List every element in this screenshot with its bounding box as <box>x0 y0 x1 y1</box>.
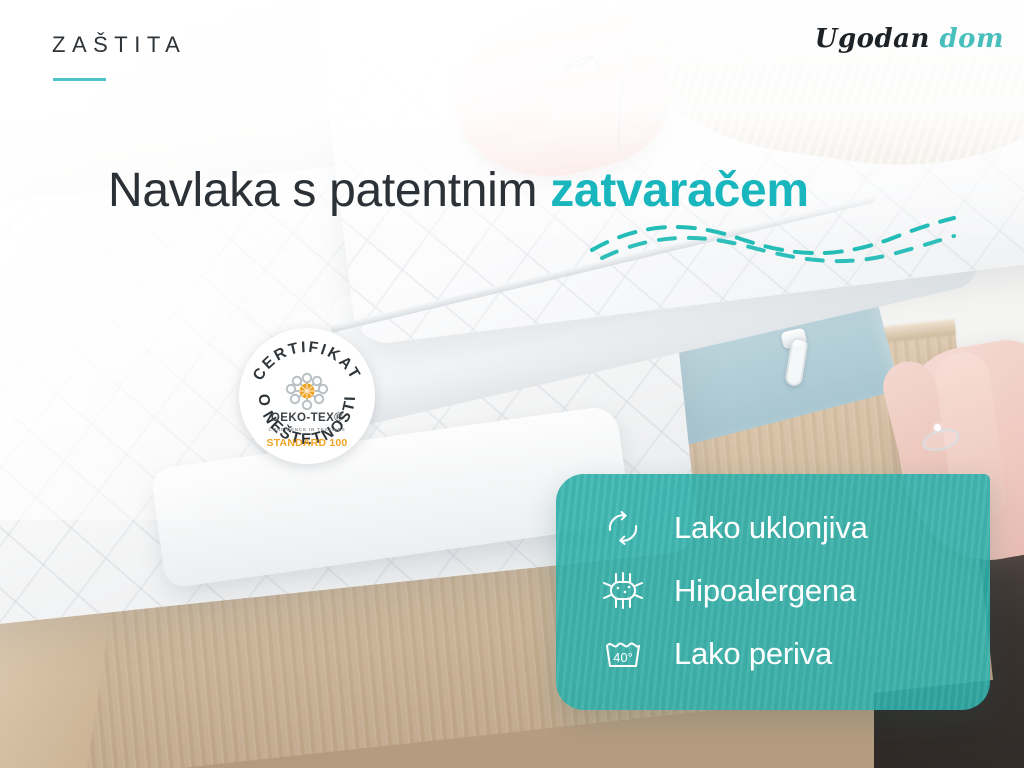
page-title: Navlaka s patentnim zatvaračem <box>108 163 809 218</box>
feature-label: Hipoalergena <box>674 573 856 609</box>
kicker-underline <box>53 78 106 81</box>
headline-plain: Navlaka s patentnim <box>108 164 537 217</box>
certificate-badge: CERTIFIKAT O NEŠTETNOSTI OEKO- <box>239 328 375 464</box>
rotate-arrows-icon <box>594 505 652 551</box>
ring-stone <box>934 424 941 431</box>
features-panel: Lako uklonjiva Hipoalergena <box>556 474 990 710</box>
badge-tagline: CONFIDENCE IN TEXTILES <box>239 427 375 432</box>
promo-image: ZAŠTITA Ugodan dom Navlaka s patentnim z… <box>0 0 1024 768</box>
feature-label: Lako periva <box>674 636 832 672</box>
feature-row: 40° Lako periva <box>594 622 990 685</box>
feature-row: Hipoalergena <box>594 559 990 622</box>
oeko-tex-flower-icon <box>284 372 330 410</box>
kicker-label: ZAŠTITA <box>52 32 186 58</box>
wash-temperature-label: 40° <box>613 650 633 665</box>
badge-core: OEKO-TEX® CONFIDENCE IN TEXTILES STANDAR… <box>239 372 375 449</box>
headline-highlight: zatvaračem <box>550 164 809 217</box>
brand-logo-second: dom <box>939 24 1004 54</box>
feature-label: Lako uklonjiva <box>674 510 868 546</box>
features-list: Lako uklonjiva Hipoalergena <box>556 474 990 685</box>
badge-brand: OEKO-TEX® <box>239 413 375 425</box>
feature-row: Lako uklonjiva <box>594 496 990 559</box>
badge-standard: STANDARD 100 <box>239 437 375 449</box>
dashed-wave-decoration <box>588 212 958 274</box>
brand-logo-first: Ugodan <box>815 24 930 54</box>
allergen-microbe-icon <box>594 568 652 614</box>
wash-tub-40-icon: 40° <box>594 631 652 677</box>
brand-logo: Ugodan dom <box>815 24 1004 54</box>
